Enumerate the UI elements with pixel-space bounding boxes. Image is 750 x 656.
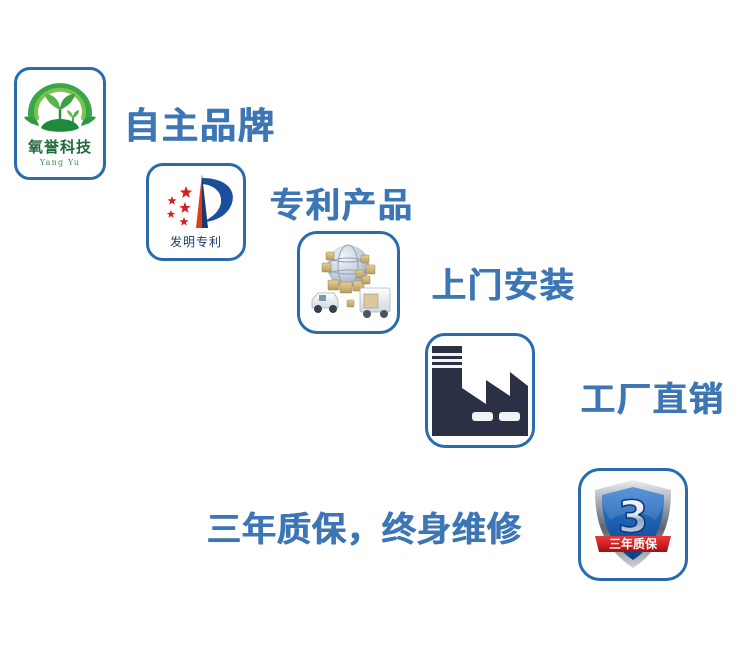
brand-logo-artwork: 氧誉科技 Yang Yu (17, 70, 103, 177)
eco-leaf-icon (21, 76, 99, 140)
shield-number: 3 (618, 492, 649, 543)
caption-factory-direct: 工厂直销 (581, 372, 725, 421)
caption-onsite-installation: 上门安装 (432, 258, 576, 307)
brand-logo-name-cn: 氧誉科技 (17, 136, 103, 157)
caption-own-brand: 自主品牌 (124, 97, 276, 149)
patent-badge-artwork (158, 172, 240, 238)
patent-badge-label: 发明专利 (149, 233, 243, 250)
three-year-warranty-shield-icon: 3 三年质保 (589, 478, 677, 570)
patent-badge-frame: 发明专利 (146, 163, 246, 261)
brand-logo-name-en: Yang Yu (17, 158, 103, 167)
promo-feature-graphic: 氧誉科技 Yang Yu 自主品牌 发明专 (0, 0, 750, 656)
factory-icon (428, 336, 532, 445)
shipping-icon-frame (297, 231, 400, 334)
warranty-shield-frame: 3 三年质保 (578, 468, 688, 581)
brand-logo-frame: 氧誉科技 Yang Yu (14, 67, 106, 180)
caption-patented-product: 专利产品 (270, 178, 414, 227)
caption-warranty-lifetime-repair: 三年质保，终身维修 (207, 502, 522, 551)
factory-icon-frame (425, 333, 535, 448)
shield-banner-text: 三年质保 (609, 536, 658, 551)
globe-parcel-delivery-icon (304, 238, 396, 330)
